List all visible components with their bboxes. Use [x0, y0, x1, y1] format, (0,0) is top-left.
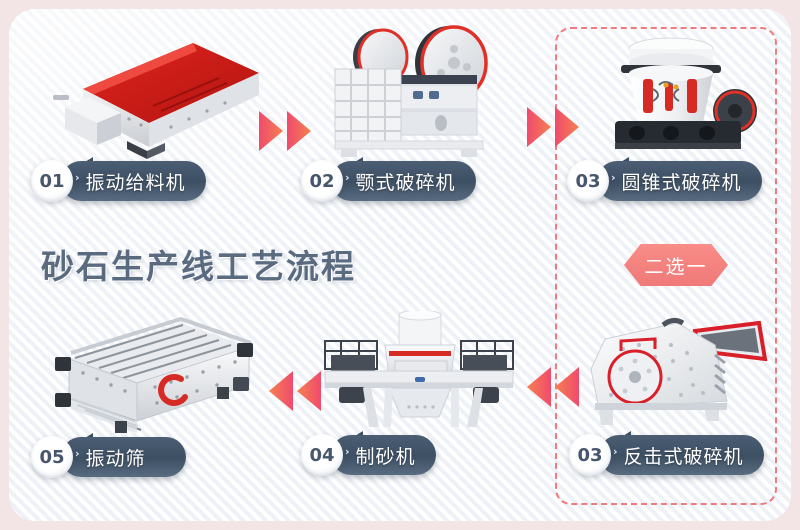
- page-title: 砂石生产线工艺流程: [41, 240, 356, 288]
- cone-crusher-image: [567, 27, 779, 159]
- chevron-right-icon: ›: [613, 446, 618, 457]
- stage-05-label[interactable]: 05 › 振动筛: [31, 435, 271, 479]
- chevron-right-icon: ›: [345, 446, 350, 457]
- chevron-right-icon: ›: [345, 172, 350, 183]
- chevron-right-icon: ›: [611, 172, 616, 183]
- arrow-impact-to-sandmaker: [523, 361, 581, 417]
- vibrating-feeder-image: [31, 31, 271, 159]
- stage-04-sand-maker[interactable]: 04 › 制砂机: [301, 311, 537, 477]
- stage-01-number: 01: [31, 160, 73, 202]
- process-flow-infographic: 01 › 振动给料机: [0, 0, 800, 530]
- arrow-sandmaker-to-screen: [265, 365, 323, 421]
- stage-05-number: 05: [31, 436, 73, 478]
- two-choose-one-label: 二选一: [644, 252, 707, 279]
- stage-04-number: 04: [301, 434, 343, 476]
- sand-maker-image: [301, 311, 537, 433]
- stage-02-jaw-crusher[interactable]: 02 › 颚式破碎机: [301, 23, 535, 203]
- stage-03-impact-label[interactable]: 03 › 反击式破碎机: [569, 433, 781, 477]
- stage-03-cone-number: 03: [567, 160, 609, 202]
- stage-03-cone-label[interactable]: 03 › 圆锥式破碎机: [567, 159, 779, 203]
- arrow-feeder-to-jaw: [257, 105, 315, 161]
- stage-02-label[interactable]: 02 › 颚式破碎机: [301, 159, 535, 203]
- stage-03-cone-crusher[interactable]: 03 › 圆锥式破碎机: [567, 27, 779, 203]
- impact-crusher-image: [569, 309, 781, 433]
- stage-05-vibrating-screen[interactable]: 05 › 振动筛: [31, 313, 271, 479]
- jaw-crusher-image: [301, 23, 535, 159]
- stage-05-name: 振动筛: [86, 444, 146, 471]
- stage-04-label[interactable]: 04 › 制砂机: [301, 433, 537, 477]
- stage-03-impact-name: 反击式破碎机: [624, 442, 744, 469]
- stage-03-impact-number: 03: [569, 434, 611, 476]
- stage-02-number: 02: [301, 160, 343, 202]
- stage-02-name: 颚式破碎机: [356, 168, 456, 195]
- stage-03-impact-crusher[interactable]: 03 › 反击式破碎机: [569, 309, 781, 477]
- two-choose-one-badge: 二选一: [624, 244, 728, 286]
- stage-04-name: 制砂机: [356, 442, 416, 469]
- flow-card: 01 › 振动给料机: [9, 9, 791, 521]
- chevron-right-icon: ›: [75, 172, 80, 183]
- stage-01-label[interactable]: 01 › 振动给料机: [31, 159, 271, 203]
- stage-01-vibrating-feeder[interactable]: 01 › 振动给料机: [31, 31, 271, 203]
- arrow-jaw-to-cone: [525, 101, 583, 157]
- vibrating-screen-image: [31, 313, 271, 435]
- stage-01-name: 振动给料机: [86, 168, 186, 195]
- stage-03-cone-name: 圆锥式破碎机: [622, 168, 742, 195]
- chevron-right-icon: ›: [75, 448, 80, 459]
